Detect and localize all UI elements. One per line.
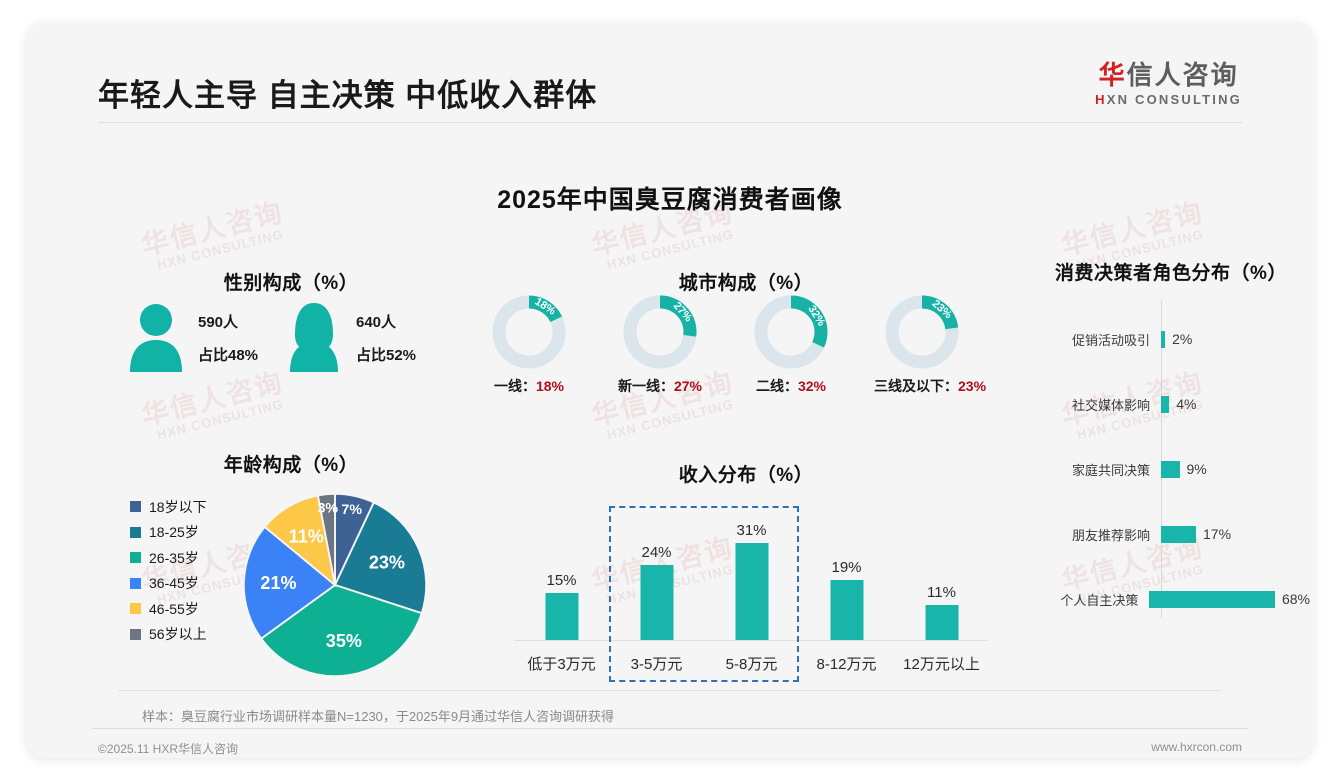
legend-label: 26-35岁 (149, 548, 199, 568)
decision-bar (1161, 526, 1196, 543)
legend-item: 26-35岁 (130, 545, 250, 571)
infographic-slide: 华信人咨询 HXN CONSULTING 华信人咨询 HXN CONSULTIN… (26, 22, 1314, 758)
age-section-title: 年龄构成（%） (126, 450, 456, 477)
legend-label: 18岁以下 (149, 497, 207, 517)
donut-label: 二线：32% (743, 376, 839, 396)
footnote-divider (118, 690, 1222, 691)
income-distribution-chart: 15%低于3万元24%3-5万元31%5-8万元19%8-12万元11%12万元… (506, 492, 996, 682)
donut-label: 一线：18% (481, 376, 577, 396)
legend-label: 18-25岁 (149, 522, 199, 542)
legend-item: 18岁以下 (130, 494, 250, 520)
donut-svg: 18% (481, 294, 577, 372)
legend-label: 56岁以上 (149, 624, 207, 644)
income-section-title: 收入分布（%） (496, 460, 996, 487)
legend-swatch-icon (130, 578, 141, 589)
donut-4: 23%三线及以下：23% (874, 294, 970, 396)
female-share: 占比52% (356, 339, 416, 372)
watermark-en: HXN CONSULTING (605, 395, 740, 442)
gender-section-title: 性别构成（%） (126, 268, 456, 295)
donut-label: 三线及以下：23% (874, 376, 970, 396)
watermark-en: HXN CONSULTING (155, 225, 290, 272)
legend-swatch-icon (130, 603, 141, 614)
donut-1: 18%一线：18% (481, 294, 577, 396)
donut-value: 32% (798, 378, 826, 394)
income-value: 11% (894, 584, 989, 601)
pie-slice-label: 11% (289, 526, 324, 546)
legend-item: 56岁以上 (130, 622, 250, 648)
city-section-title: 城市构成（%） (476, 268, 1016, 295)
income-bar (545, 593, 578, 640)
male-stats: 590人 占比48% (198, 306, 258, 372)
decision-value: 17% (1203, 526, 1231, 542)
decision-row: 促销活动吸引2% (1038, 328, 1310, 350)
decision-bar (1161, 396, 1169, 413)
female-count: 640人 (356, 306, 416, 339)
income-category-label: 8-12万元 (799, 653, 894, 674)
decision-label: 个人自主决策 (1038, 590, 1144, 609)
logo-en-first-char: H (1095, 92, 1107, 107)
decision-section-title: 消费决策者角色分布（%） (1026, 258, 1314, 285)
pie-slice-label: 7% (341, 502, 362, 518)
logo-cn-first-char: 华 (1099, 60, 1127, 90)
decision-row: 家庭共同决策9% (1038, 458, 1310, 480)
page-title: 年轻人主导 自主决策 中低收入群体 (98, 70, 597, 115)
chart-subtitle: 2025年中国臭豆腐消费者画像 (26, 180, 1314, 216)
pie-slice-label: 3% (317, 501, 338, 517)
logo-chinese-name: 华信人咨询 (1095, 62, 1242, 89)
legend-swatch-icon (130, 501, 141, 512)
watermark-en: HXN CONSULTING (155, 395, 290, 442)
pie-slice-label: 23% (369, 553, 405, 573)
gender-composition: 590人 占比48% 640人 占比52% (118, 300, 468, 385)
donut-svg: 32% (743, 294, 839, 372)
decision-label: 社交媒体影响 (1038, 395, 1156, 414)
donut-caption: 二线： (756, 378, 798, 394)
legend-swatch-icon (130, 527, 141, 538)
donut-value: 27% (674, 378, 702, 394)
income-column: 19%8-12万元 (799, 492, 894, 682)
legend-swatch-icon (130, 552, 141, 563)
decision-label: 促销活动吸引 (1038, 330, 1156, 349)
donut-2: 27%新一线：27% (612, 294, 708, 396)
header-divider (98, 122, 1242, 123)
decision-label: 家庭共同决策 (1038, 460, 1156, 479)
logo-cn-rest: 信人咨询 (1127, 60, 1239, 90)
donut-value: 23% (958, 378, 986, 394)
website-url[interactable]: www.hxrcon.com (1151, 740, 1242, 754)
company-logo: 华信人咨询 HXN CONSULTING (1095, 62, 1242, 107)
copyright-text: ©2025.11 HXR华信人咨询 (98, 740, 238, 757)
watermark-en: HXN CONSULTING (605, 225, 740, 272)
age-composition-chart: 18岁以下18-25岁26-35岁36-45岁46-55岁56岁以上 7%23%… (122, 484, 467, 679)
income-value: 19% (799, 559, 894, 576)
slide-header: 年轻人主导 自主决策 中低收入群体 华信人咨询 HXN CONSULTING (26, 22, 1314, 122)
female-avatar-icon (284, 300, 344, 372)
legend-swatch-icon (130, 629, 141, 640)
income-highlight-box (609, 506, 799, 682)
donut-caption: 三线及以下： (874, 378, 958, 394)
donut-label: 新一线：27% (612, 376, 708, 396)
income-column: 15%低于3万元 (514, 492, 609, 682)
decision-bar (1161, 461, 1180, 478)
donut-svg: 23% (874, 294, 970, 372)
income-column: 11%12万元以上 (894, 492, 989, 682)
decision-value: 2% (1172, 331, 1192, 347)
decision-row: 个人自主决策68% (1038, 588, 1310, 610)
legend-label: 36-45岁 (149, 573, 199, 593)
male-count: 590人 (198, 306, 258, 339)
income-bar (925, 605, 958, 640)
income-bar (830, 580, 863, 640)
legend-label: 46-55岁 (149, 599, 199, 619)
footer-divider (92, 728, 1248, 729)
decision-bar (1149, 591, 1275, 608)
male-share: 占比48% (198, 339, 258, 372)
female-stats: 640人 占比52% (356, 306, 416, 372)
income-category-label: 12万元以上 (894, 653, 989, 674)
decision-value: 9% (1187, 461, 1207, 477)
sample-footnote: 样本：臭豆腐行业市场调研样本量N=1230，于2025年9月通过华信人咨询调研获… (142, 706, 614, 725)
donut-caption: 新一线： (618, 378, 674, 394)
decision-bar (1161, 331, 1165, 348)
donut-caption: 一线： (494, 378, 536, 394)
decision-row: 社交媒体影响4% (1038, 393, 1310, 415)
donut-value: 18% (536, 378, 564, 394)
donut-svg: 27% (612, 294, 708, 372)
decision-row: 朋友推荐影响17% (1038, 523, 1310, 545)
decision-value: 68% (1282, 591, 1310, 607)
income-value: 15% (514, 572, 609, 589)
logo-en-rest: XN CONSULTING (1107, 92, 1242, 107)
decision-label: 朋友推荐影响 (1038, 525, 1156, 544)
pie-slice-label: 21% (260, 573, 296, 593)
decision-role-chart: 促销活动吸引2%社交媒体影响4%家庭共同决策9%朋友推荐影响17%个人自主决策6… (1038, 300, 1310, 620)
city-tier-donut-group: 18%一线：18%27%新一线：27%32%二线：32%23%三线及以下：23% (481, 294, 1011, 399)
income-category-label: 低于3万元 (514, 653, 609, 674)
legend-item: 36-45岁 (130, 571, 250, 597)
legend-item: 46-55岁 (130, 596, 250, 622)
legend-item: 18-25岁 (130, 520, 250, 546)
pie-slice-label: 35% (326, 631, 362, 651)
decision-value: 4% (1176, 396, 1196, 412)
logo-english-name: HXN CONSULTING (1095, 92, 1242, 107)
age-chart-legend: 18岁以下18-25岁26-35岁36-45岁46-55岁56岁以上 (130, 494, 250, 647)
donut-3: 32%二线：32% (743, 294, 839, 396)
age-pie-chart: 7%23%35%21%11%3% (240, 490, 430, 680)
male-avatar-icon (126, 300, 186, 372)
